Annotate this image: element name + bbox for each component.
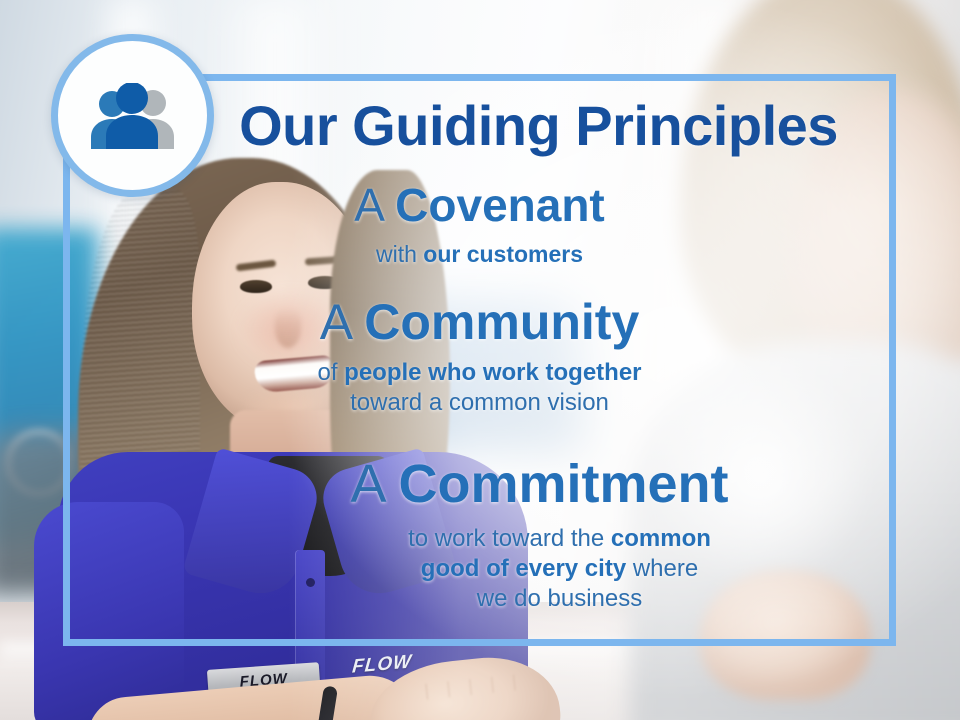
principle-article: A [350,454,383,514]
principle-commitment: A Commitment to work toward the commongo… [63,456,956,614]
subtext-line: with our customers [63,240,896,269]
subtext-line: we do business [163,584,956,614]
principle-article: A [354,179,382,231]
principle-word: Commitment [399,454,729,514]
subtext-run: we do business [477,585,642,612]
subtext-run: toward a common vision [350,389,609,416]
subtext-emphasis: people who work together [344,359,641,386]
guiding-principles-poster: FLOW AUTOMOTIVE FLOW [0,0,960,720]
subtext-run: where [626,555,698,582]
principle-heading: A Community [63,296,896,348]
subtext-run: of [317,359,344,386]
subtext-line: toward a common vision [63,388,896,418]
subtext-emphasis: common [611,525,711,552]
page-title: Our Guiding Principles [63,98,896,154]
principle-community: A Community of people who work togethert… [63,296,900,418]
principle-word: Covenant [395,179,605,231]
subtext-run: with [376,241,423,267]
subtext-emphasis: good of every city [421,555,626,582]
subtext-emphasis: our customers [423,241,583,267]
subtext-line: good of every city where [163,554,956,584]
principle-subtext: of people who work togethertoward a comm… [63,358,896,418]
principle-heading: A Covenant [63,182,896,230]
subtext-line: of people who work together [63,358,896,388]
principle-subtext: to work toward the commongood of every c… [123,524,956,614]
principle-subtext: with our customers [63,240,896,269]
principle-word: Community [364,294,639,350]
poster-content: Our Guiding Principles A Covenant with o… [63,74,896,646]
principle-covenant: A Covenant with our customers [63,182,960,269]
subtext-line: to work toward the common [163,524,956,554]
subtext-run: to work toward the [408,525,611,552]
principle-article: A [320,294,351,350]
principle-heading: A Commitment [123,456,956,512]
